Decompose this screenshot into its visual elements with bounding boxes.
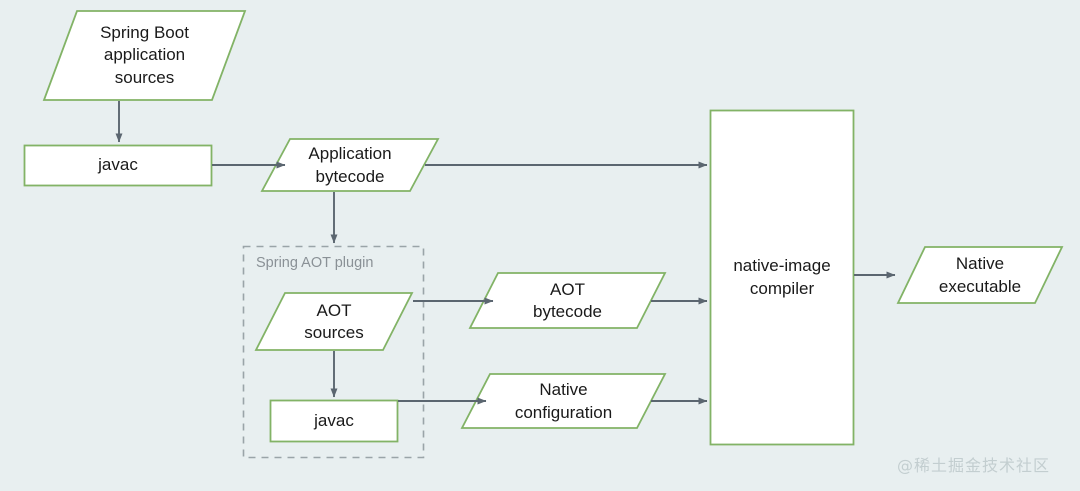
- shape-spring-boot-application-sources[interactable]: [44, 11, 245, 100]
- diagram-shapes-layer: [0, 0, 1080, 491]
- shape-javac-aot[interactable]: [271, 401, 398, 442]
- shape-aot-sources[interactable]: [256, 293, 412, 350]
- watermark: @稀土掘金技术社区: [897, 452, 1050, 476]
- shape-native-image-compiler[interactable]: [711, 111, 854, 445]
- shape-application-bytecode[interactable]: [262, 139, 438, 191]
- group-label-spring-aot-plugin: Spring AOT plugin: [256, 255, 373, 272]
- shape-aot-bytecode[interactable]: [470, 273, 665, 328]
- shape-javac-main[interactable]: [25, 146, 212, 186]
- shape-native-executable[interactable]: [898, 247, 1062, 303]
- diagram-canvas: Spring Boot application sources javac Ap…: [0, 0, 1080, 491]
- shape-native-configuration[interactable]: [462, 374, 665, 428]
